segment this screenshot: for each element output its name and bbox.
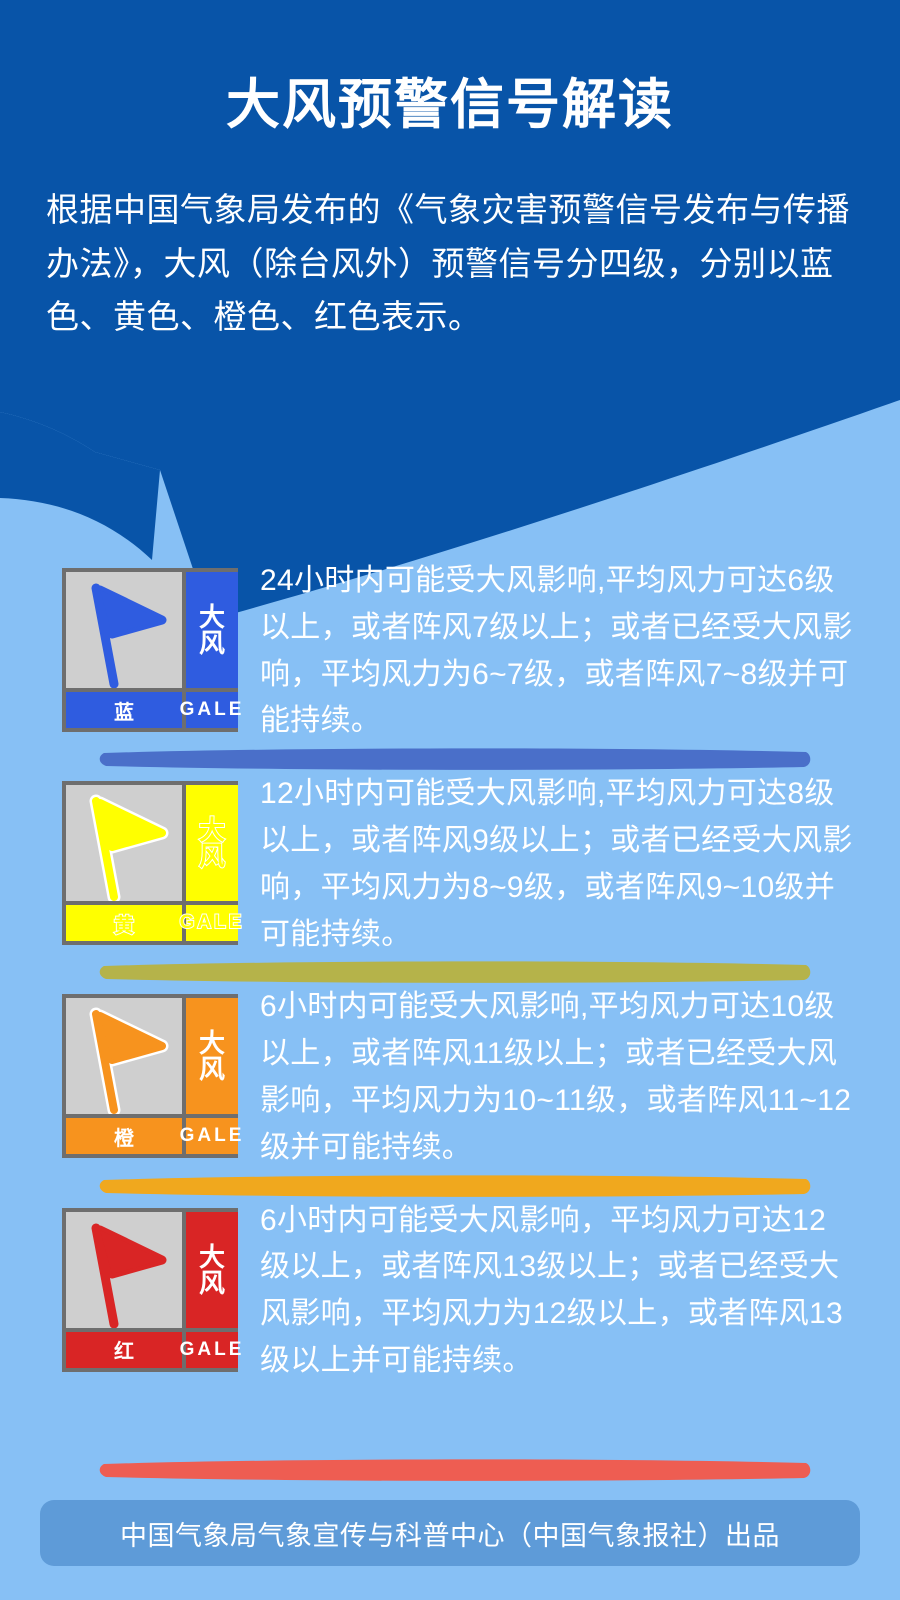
- intro-paragraph: 根据中国气象局发布的《气象灾害预警信号发布与传播办法》，大风（除台风外）预警信号…: [40, 183, 860, 343]
- gale-cn-char1: 大: [199, 1244, 225, 1270]
- level-description-red: 6小时内可能受大风影响，平均风力可达12级以上，或者阵风13级以上；或者已经受大…: [238, 1198, 856, 1385]
- gale-cn-char2: 风: [199, 630, 225, 656]
- level-row-yellow: 大 风 黄 GALE 12小时内可能受大风影响,平均风力可达8级以上，或者阵风9…: [0, 771, 900, 958]
- warning-sign-blue: 大 风 蓝 GALE: [62, 568, 238, 732]
- sign-gale-en-blue: GALE: [186, 692, 238, 728]
- sign-gale-cn-blue: 大 风: [186, 572, 238, 688]
- sign-gale-cn-yellow: 大 风: [186, 785, 238, 901]
- warning-level-list: 大 风 蓝 GALE 24小时内可能受大风影响,平均风力可达6级以上，或者阵风7…: [0, 558, 900, 1385]
- gale-cn-char1: 大: [199, 604, 225, 630]
- sign-colorname-orange: 橙: [66, 1118, 182, 1154]
- sign-gale-cn-orange: 大 风: [186, 998, 238, 1114]
- sign-colorname-red: 红: [66, 1332, 182, 1368]
- flag-icon-red: [66, 1212, 182, 1328]
- warning-sign-orange: 大 风 橙 GALE: [62, 994, 238, 1158]
- gale-cn-char2: 风: [199, 1056, 225, 1082]
- sign-gale-en-yellow: GALE: [186, 905, 238, 941]
- level-row-red: 大 风 红 GALE 6小时内可能受大风影响，平均风力可达12级以上，或者阵风1…: [0, 1198, 900, 1385]
- flag-icon-blue: [66, 572, 182, 688]
- sign-gale-cn-red: 大 风: [186, 1212, 238, 1328]
- footer-credit: 中国气象局气象宣传与科普中心（中国气象报社）出品: [40, 1500, 860, 1566]
- level-row-blue: 大 风 蓝 GALE 24小时内可能受大风影响,平均风力可达6级以上，或者阵风7…: [0, 558, 900, 745]
- warning-sign-yellow: 大 风 黄 GALE: [62, 781, 238, 945]
- footer: 中国气象局气象宣传与科普中心（中国气象报社）出品: [0, 1456, 900, 1600]
- gale-cn-char1: 大: [199, 817, 225, 843]
- gale-cn-char2: 风: [199, 1270, 225, 1296]
- speech-bubble: 大风预警信号解读 根据中国气象局发布的《气象灾害预警信号发布与传播办法》，大风（…: [0, 0, 900, 620]
- sign-gale-en-orange: GALE: [186, 1118, 238, 1154]
- divider-red: [0, 1456, 900, 1482]
- level-description-blue: 24小时内可能受大风影响,平均风力可达6级以上，或者阵风7级以上；或者已经受大风…: [238, 558, 856, 745]
- sign-gale-en-red: GALE: [186, 1332, 238, 1368]
- level-row-orange: 大 风 橙 GALE 6小时内可能受大风影响,平均风力可达10级以上，或者阵风1…: [0, 984, 900, 1171]
- divider-blue: [0, 745, 900, 771]
- flag-icon-orange: [66, 998, 182, 1114]
- level-description-yellow: 12小时内可能受大风影响,平均风力可达8级以上，或者阵风9级以上；或者已经受大风…: [238, 771, 856, 958]
- gale-cn-char2: 风: [199, 843, 225, 869]
- bubble-content: 大风预警信号解读 根据中国气象局发布的《气象灾害预警信号发布与传播办法》，大风（…: [0, 0, 900, 420]
- warning-sign-red: 大 风 红 GALE: [62, 1208, 238, 1372]
- divider-orange: [0, 1172, 900, 1198]
- page-title: 大风预警信号解读: [40, 76, 860, 135]
- sign-colorname-blue: 蓝: [66, 692, 182, 728]
- flag-icon-yellow: [66, 785, 182, 901]
- level-description-orange: 6小时内可能受大风影响,平均风力可达10级以上，或者阵风11级以上；或者已经受大…: [238, 984, 856, 1171]
- gale-cn-char1: 大: [199, 1030, 225, 1056]
- sign-colorname-yellow: 黄: [66, 905, 182, 941]
- divider-yellow: [0, 958, 900, 984]
